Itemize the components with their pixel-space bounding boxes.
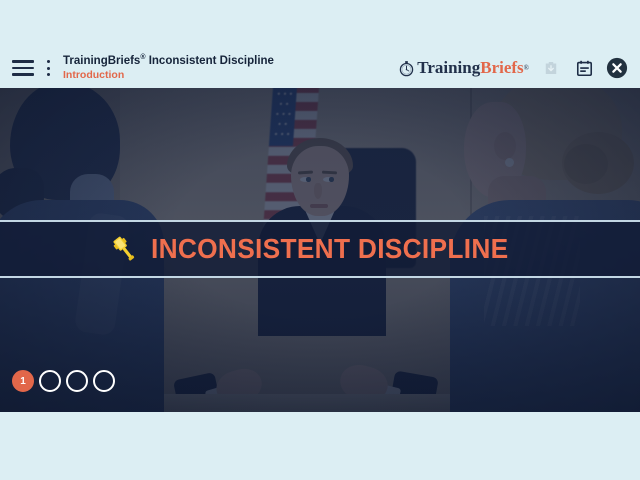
course-title-brand: TrainingBriefs [63,55,140,67]
window-top-strip [0,0,640,48]
hamburger-line [12,60,34,63]
flag-stars [272,88,294,143]
hamburger-line [12,67,34,70]
judge-pupil [306,177,311,182]
registered-mark: ® [140,54,145,61]
stopwatch-icon [398,60,415,77]
pagination-dot-4[interactable] [93,370,115,392]
section-label: Introduction [63,69,398,81]
slide-pagination: 1 [12,370,115,392]
course-title: TrainingBriefs® Inconsistent Discipline [63,54,398,68]
slide-stage: INCONSISTENT DISCIPLINE 1 [0,88,640,412]
hamburger-line [12,73,34,76]
course-title-name: Inconsistent Discipline [149,55,274,67]
download-icon [540,57,562,79]
person-ear [494,132,516,160]
judge-nose [314,183,322,199]
pagination-dot-3[interactable] [66,370,88,392]
logo-word-training: Training [417,58,480,78]
logo-word-briefs: Briefs [480,58,523,78]
pagination-dot-2[interactable] [39,370,61,392]
flag-canton [269,88,297,146]
slide-title: INCONSISTENT DISCIPLINE [151,233,508,265]
slide-title-banner: INCONSISTENT DISCIPLINE [0,220,640,278]
header-titles: TrainingBriefs® Inconsistent Discipline … [63,54,398,81]
player-footer [0,412,640,480]
notes-icon[interactable] [573,57,595,79]
person-earring [505,158,514,167]
kebab-dot [47,60,50,63]
hamburger-menu-icon[interactable] [12,60,34,76]
close-icon[interactable] [606,57,628,79]
judge-pupil [329,177,334,182]
trainingbriefs-logo: TrainingBriefs® [398,58,529,78]
slide-title-banner-inner: INCONSISTENT DISCIPLINE [109,233,531,265]
person-hair-bun-inner [564,144,608,184]
logo-registered-mark: ® [524,64,529,72]
pagination-dot-1[interactable]: 1 [12,370,34,392]
more-options-icon[interactable] [43,60,53,76]
gavel-icon [109,234,139,264]
kebab-dot [47,67,50,70]
player-header: TrainingBriefs® Inconsistent Discipline … [0,48,640,88]
course-player-window: TrainingBriefs® Inconsistent Discipline … [0,0,640,480]
judge-mouth [310,204,328,208]
kebab-dot [47,73,50,76]
header-actions: TrainingBriefs® [398,57,628,79]
